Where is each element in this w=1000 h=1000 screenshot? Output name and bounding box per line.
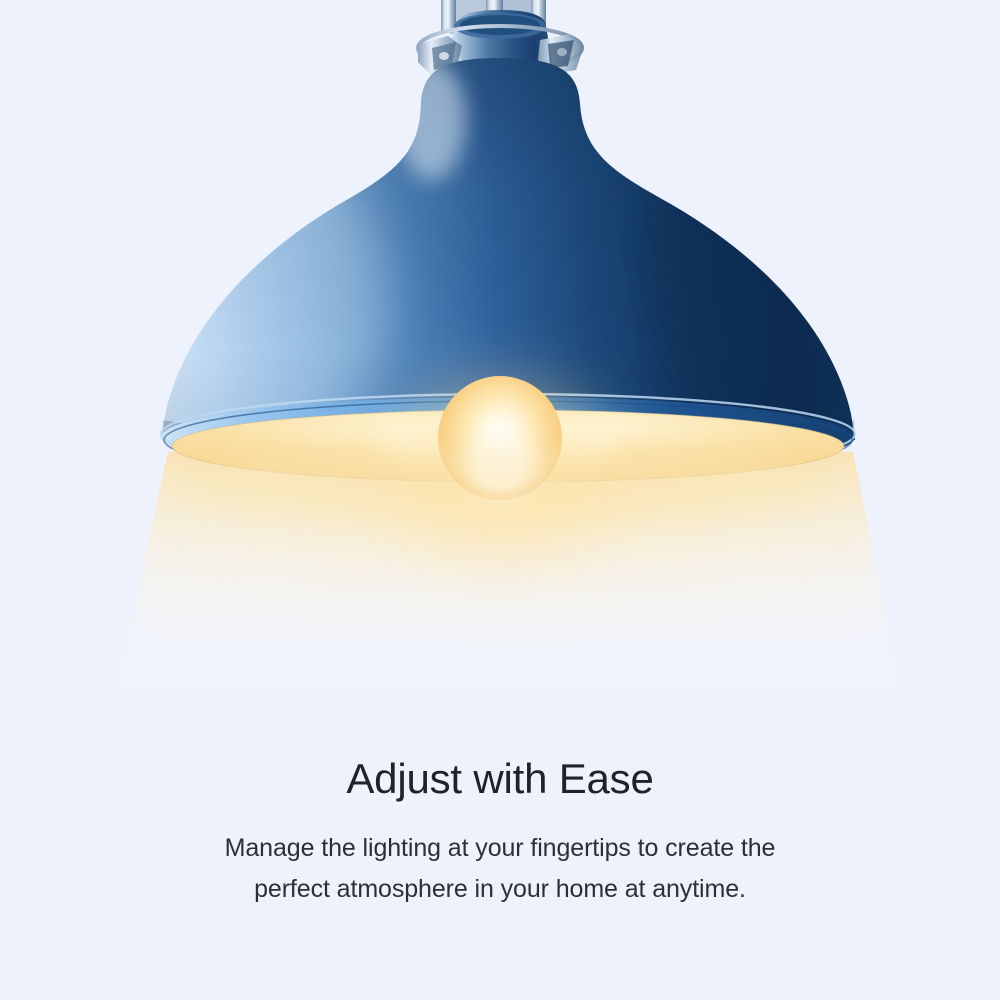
subtitle-line-2: perfect atmosphere in your home at anyti… [0, 869, 1000, 910]
page-subtitle: Manage the lighting at your fingertips t… [0, 828, 1000, 910]
subtitle-line-1: Manage the lighting at your fingertips t… [0, 828, 1000, 869]
caption-block: Adjust with Ease Manage the lighting at … [0, 752, 1000, 910]
light-cone-top-blend [175, 446, 835, 526]
promo-card: Adjust with Ease Manage the lighting at … [0, 0, 1000, 1000]
page-title: Adjust with Ease [0, 752, 1000, 806]
